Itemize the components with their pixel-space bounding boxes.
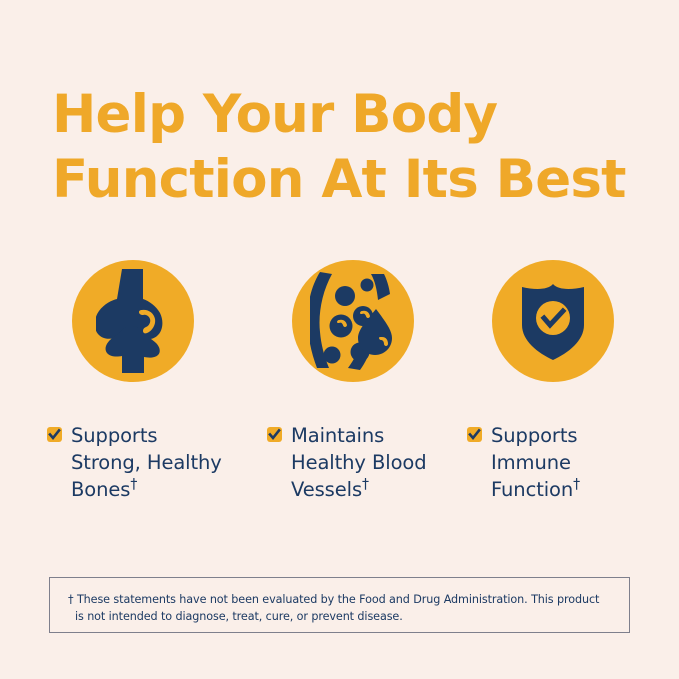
headline-line-1: Help Your Body — [52, 82, 632, 147]
benefit-label-text: Maintains Healthy Blood Vessels† — [291, 422, 427, 503]
benefit-icon-circle — [72, 260, 194, 382]
disclaimer-text: † These statements have not been evaluat… — [68, 591, 611, 625]
benefit-item-immune: Supports Immune Function† — [467, 260, 667, 382]
promo-panel: Help Your Body Function At Its Best — [0, 0, 679, 679]
disclaimer-box: † These statements have not been evaluat… — [49, 577, 630, 633]
benefit-label-row: Supports Strong, Healthy Bones† — [47, 422, 222, 503]
blood-vessel-icon — [310, 272, 396, 370]
checkbox-checked-icon — [267, 427, 282, 442]
benefit-icon-circle — [292, 260, 414, 382]
benefit-label-row: Maintains Healthy Blood Vessels† — [267, 422, 427, 503]
benefit-item-blood-vessels: Maintains Healthy Blood Vessels† — [267, 260, 467, 382]
checkbox-checked-icon — [47, 427, 62, 442]
shield-check-icon — [518, 281, 588, 361]
benefit-icon-circle — [492, 260, 614, 382]
checkbox-checked-icon — [467, 427, 482, 442]
headline-line-2: Function At Its Best — [52, 147, 632, 212]
benefits-row: Supports Strong, Healthy Bones† — [0, 260, 679, 520]
page-title: Help Your Body Function At Its Best — [52, 82, 632, 212]
benefit-label-text: Supports Immune Function† — [491, 422, 580, 503]
bone-joint-icon — [96, 269, 170, 373]
benefit-label-text: Supports Strong, Healthy Bones† — [71, 422, 222, 503]
benefit-item-bones: Supports Strong, Healthy Bones† — [47, 260, 247, 382]
benefit-label-row: Supports Immune Function† — [467, 422, 580, 503]
